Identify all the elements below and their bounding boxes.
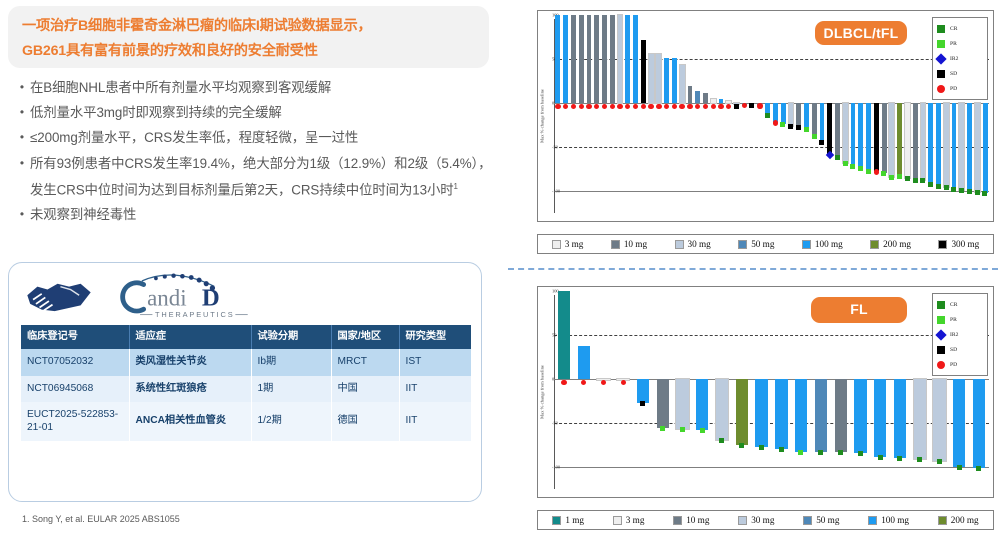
response-marker-pr: [700, 428, 705, 433]
list-item: • ≤200mg剂量水平，CRS发生率低，程度轻微，呈一过性: [14, 126, 492, 149]
response-marker-cr: [913, 178, 918, 183]
dose-swatch-icon: [613, 516, 622, 525]
legend-label: SD: [950, 71, 957, 77]
bar: [975, 103, 980, 193]
bar: [835, 103, 840, 157]
bar: [656, 54, 661, 103]
chart-title-badge-dlbcl: DLBCL/tFL: [815, 21, 907, 45]
sd-swatch-icon: [937, 346, 945, 354]
dose-legend-item[interactable]: 200 mg: [938, 515, 979, 525]
bar: [866, 103, 871, 172]
pd-swatch-icon: [937, 85, 945, 93]
response-marker-pd: [672, 104, 677, 109]
bar: [672, 58, 677, 103]
chart-title-badge-fl: FL: [811, 297, 907, 323]
dose-swatch-icon: [868, 516, 877, 525]
response-legend-dlbcl: CRPRIR2SDPD: [932, 17, 988, 100]
dose-legend-label: 50 mg: [751, 239, 774, 249]
cell-registry: NCT07052032: [21, 349, 129, 376]
svg-text:THERAPEUTICS: THERAPEUTICS: [155, 310, 234, 319]
cell-country: 中国: [331, 376, 399, 403]
dose-swatch-icon: [675, 240, 684, 249]
response-marker-sd: [819, 140, 824, 145]
clinical-trials-table: 临床登记号 适应症 试验分期 国家/地区 研究类型 NCT07052032 类风…: [21, 325, 471, 441]
bar: [625, 15, 630, 103]
dose-swatch-icon: [738, 516, 747, 525]
bullet-dot-icon: •: [14, 203, 30, 226]
bullet-text: 未观察到神经毒性: [30, 203, 136, 226]
legend-row-pr: PR: [937, 36, 983, 51]
dose-swatch-icon: [870, 240, 879, 249]
logo-row: andi D THERAPEUTICS: [23, 267, 463, 325]
response-marker-pd: [555, 104, 560, 109]
cell-study-type: IST: [399, 349, 471, 376]
response-marker-pr: [843, 161, 848, 166]
response-marker-pd: [561, 380, 566, 385]
dose-swatch-icon: [673, 516, 682, 525]
response-marker-cr: [858, 451, 863, 456]
dose-legend-label: 3 mg: [626, 515, 645, 525]
bar: [905, 103, 910, 179]
cell-phase: Ib期: [251, 349, 331, 376]
bar: [894, 379, 906, 458]
bar: [711, 99, 716, 103]
response-marker-sd: [749, 103, 754, 108]
dose-legend-item[interactable]: 3 mg: [613, 515, 645, 525]
legend-row-sd: SD: [937, 342, 983, 357]
response-marker-cr: [897, 456, 902, 461]
response-marker-cr: [944, 185, 949, 190]
legend-label: CR: [950, 302, 957, 308]
cell-registry: NCT06945068: [21, 376, 129, 403]
dose-swatch-icon: [552, 516, 561, 525]
response-marker-pd: [625, 104, 630, 109]
bar: [558, 291, 570, 379]
bar: [578, 346, 590, 378]
list-item: • 低剂量水平3mg时即观察到持续的完全缓解: [14, 101, 492, 124]
response-marker-pd: [687, 104, 692, 109]
cell-phase: 1/2期: [251, 402, 331, 441]
bar: [633, 15, 638, 103]
dose-swatch-icon: [611, 240, 620, 249]
bar: [973, 379, 985, 468]
table-header-row: 临床登记号 适应症 试验分期 国家/地区 研究类型: [21, 325, 471, 349]
pd-swatch-icon: [937, 361, 945, 369]
bar: [804, 103, 809, 129]
bullet-text: 所有93例患者中CRS发生率19.4%，绝大部分为1级（12.9%）和2级（5.…: [30, 156, 491, 198]
response-marker-sd: [734, 104, 739, 109]
bar: [571, 15, 576, 103]
column-header-phase: 试验分期: [251, 325, 331, 349]
dose-legend-item[interactable]: 10 mg: [611, 239, 647, 249]
response-marker-pd: [718, 104, 723, 109]
bar: [851, 103, 856, 166]
dose-legend-label: 200 mg: [951, 515, 979, 525]
response-marker-pr: [866, 169, 871, 174]
bullet-text: 低剂量水平3mg时即观察到持续的完全缓解: [30, 101, 282, 124]
response-marker-cr: [975, 190, 980, 195]
slide-root: 一项治疗B细胞非霍奇金淋巴瘤的临床I期试验数据显示， GB261具有富有前景的疗…: [0, 0, 1000, 538]
dose-legend-item[interactable]: 50 mg: [738, 239, 774, 249]
response-marker-pr: [897, 174, 902, 179]
legend-label: PR: [950, 317, 957, 323]
response-marker-cr: [838, 450, 843, 455]
bar: [820, 103, 825, 143]
dose-legend-label: 1 mg: [565, 515, 584, 525]
bar: [688, 86, 693, 103]
cr-swatch-icon: [937, 301, 945, 309]
legend-label: PD: [950, 86, 957, 92]
response-marker-pd: [602, 104, 607, 109]
response-marker-pd: [679, 104, 684, 109]
response-marker-pd: [563, 104, 568, 109]
response-marker-pr: [780, 122, 785, 127]
bar: [854, 379, 866, 454]
cell-phase: 1期: [251, 376, 331, 403]
bar: [843, 103, 848, 163]
sd-swatch-icon: [937, 70, 945, 78]
bar: [719, 99, 724, 103]
column-header-indication: 适应症: [129, 325, 251, 349]
bar: [579, 15, 584, 103]
dose-legend-label: 100 mg: [815, 239, 843, 249]
bullet-dot-icon: •: [14, 126, 30, 149]
bar: [889, 103, 894, 177]
bullet-dot-icon: •: [14, 76, 30, 99]
response-marker-pd: [571, 104, 576, 109]
response-marker-pd: [617, 104, 622, 109]
legend-row-pd: PD: [937, 357, 983, 372]
dose-swatch-icon: [552, 240, 561, 249]
dose-swatch-icon: [803, 516, 812, 525]
bar: [952, 103, 957, 189]
bullet-dot-icon: •: [14, 101, 30, 124]
bullet-text: ≤200mg剂量水平，CRS发生率低，程度轻微，呈一过性: [30, 126, 358, 149]
bar: [649, 54, 654, 103]
bullet-dot-icon: •: [14, 152, 30, 175]
response-legend-fl: CRPRIR2SDPD: [932, 293, 988, 376]
response-marker-pr: [798, 450, 803, 455]
cr-swatch-icon: [937, 25, 945, 33]
bar: [936, 103, 941, 186]
canvas-fl: 100500-50-100: [554, 291, 989, 493]
ir2-swatch-icon: [935, 53, 946, 64]
bar: [953, 379, 965, 467]
response-marker-cr: [951, 187, 956, 192]
response-marker-pd: [874, 169, 879, 174]
response-marker-cr: [957, 465, 962, 470]
response-marker-pd: [581, 380, 586, 385]
footnote-marker: 1: [454, 182, 458, 191]
bar: [913, 103, 918, 180]
legend-label: CR: [950, 26, 957, 32]
legend-label: SD: [950, 347, 957, 353]
plot-area-dlbcl: Max % change from baseline 100500-50-100…: [537, 10, 994, 222]
dose-legend-item[interactable]: 1 mg: [552, 515, 584, 525]
cell-indication: ANCA相关性血管炎: [129, 402, 251, 441]
response-marker-pd: [579, 104, 584, 109]
chart-fl: Max % change from baseline 100500-50-100…: [511, 278, 998, 536]
response-marker-pd: [594, 104, 599, 109]
dose-swatch-icon: [802, 240, 811, 249]
response-marker-pr: [660, 426, 665, 431]
column-header-country: 国家/地区: [331, 325, 399, 349]
legend-row-cr: CR: [937, 21, 983, 36]
bar: [858, 103, 863, 168]
dose-swatch-icon: [938, 240, 947, 249]
bar: [716, 379, 728, 440]
response-marker-cr: [936, 184, 941, 189]
dose-legend-dlbcl: 3 mg10 mg30 mg50 mg100 mg200 mg300 mg: [537, 234, 994, 254]
bar: [594, 15, 599, 103]
dose-legend-label: 30 mg: [751, 515, 774, 525]
table-row: NCT07052032 类风湿性关节炎 Ib期 MRCT IST: [21, 349, 471, 376]
response-marker-pd: [711, 104, 716, 109]
response-marker-pd: [757, 103, 762, 108]
plot-area-fl: Max % change from baseline 100500-50-100…: [537, 286, 994, 498]
bar: [921, 103, 926, 180]
response-marker-cr: [835, 155, 840, 160]
list-item: • 未观察到神经毒性: [14, 203, 492, 226]
bar: [933, 379, 945, 462]
bar: [874, 103, 879, 172]
dose-legend-label: 3 mg: [565, 239, 584, 249]
bars-dlbcl: [554, 15, 989, 217]
headline-line-2: GB261具有富有前景的疗效和良好的安全耐受性: [22, 39, 475, 64]
bar: [914, 379, 926, 459]
dose-legend-label: 50 mg: [816, 515, 839, 525]
bar: [680, 65, 685, 103]
response-marker-pr: [850, 164, 855, 169]
bar: [641, 40, 646, 103]
response-marker-pd: [726, 104, 731, 109]
ir2-swatch-icon: [935, 329, 946, 340]
response-marker-cr: [719, 438, 724, 443]
dose-legend-label: 30 mg: [688, 239, 711, 249]
table-row: NCT06945068 系统性红斑狼疮 1期 中国 IIT: [21, 376, 471, 403]
response-marker-pd: [703, 104, 708, 109]
dose-legend-label: 10 mg: [624, 239, 647, 249]
bar: [563, 15, 568, 103]
dose-legend-item[interactable]: 30 mg: [738, 515, 774, 525]
bar: [664, 58, 669, 103]
legend-row-pr: PR: [937, 312, 983, 327]
legend-row-pd: PD: [937, 81, 983, 96]
response-marker-pd: [648, 104, 653, 109]
bullet-text-with-footnote: 所有93例患者中CRS发生率19.4%，绝大部分为1级（12.9%）和2级（5.…: [30, 152, 492, 202]
response-marker-pr: [881, 171, 886, 176]
column-header-study-type: 研究类型: [399, 325, 471, 349]
bar: [657, 379, 669, 428]
bar: [795, 379, 807, 452]
response-marker-pd: [742, 103, 747, 108]
response-marker-sd: [640, 401, 645, 406]
dose-legend-fl: 1 mg3 mg10 mg30 mg50 mg100 mg200 mg: [537, 510, 994, 530]
y-axis-label-fl: Max % change from baseline: [540, 342, 545, 442]
response-marker-cr: [920, 178, 925, 183]
response-marker-cr: [905, 176, 910, 181]
bar: [695, 91, 700, 102]
dose-legend-item[interactable]: 3 mg: [552, 239, 584, 249]
response-marker-pr: [812, 134, 817, 139]
response-marker-pd: [610, 104, 615, 109]
cell-indication: 类风湿性关节炎: [129, 349, 251, 376]
bar: [983, 103, 988, 193]
candid-logo: andi D THERAPEUTICS: [103, 270, 253, 322]
dose-legend-item[interactable]: 100 mg: [802, 239, 843, 249]
bars-fl: [554, 291, 989, 493]
bar: [555, 15, 560, 103]
response-marker-pr: [680, 427, 685, 432]
legend-row-ir2: IR2: [937, 51, 983, 66]
bar: [610, 15, 615, 103]
response-marker-cr: [917, 457, 922, 462]
dose-swatch-icon: [938, 516, 947, 525]
bar: [587, 15, 592, 103]
bar: [781, 103, 786, 124]
bar: [618, 15, 623, 103]
table-row: EUCT2025-522853-21-01 ANCA相关性血管炎 1/2期 德国…: [21, 402, 471, 441]
left-panel: 一项治疗B细胞非霍奇金淋巴瘤的临床I期试验数据显示， GB261具有富有前景的疗…: [0, 0, 500, 538]
y-axis-label-dlbcl: Max % change from baseline: [540, 66, 545, 166]
response-marker-sd: [796, 125, 801, 130]
response-marker-cr: [739, 443, 744, 448]
dose-legend-label: 10 mg: [686, 515, 709, 525]
response-marker-cr: [765, 113, 770, 118]
bar: [696, 379, 708, 430]
bar: [928, 103, 933, 184]
dose-swatch-icon: [738, 240, 747, 249]
bar: [775, 379, 787, 449]
bar: [602, 15, 607, 103]
response-marker-cr: [937, 459, 942, 464]
canvas-dlbcl: 100500-50-100: [554, 15, 989, 217]
bar: [967, 103, 972, 191]
bar: [736, 379, 748, 445]
bar: [789, 103, 794, 126]
response-marker-pd: [601, 380, 606, 385]
bar: [796, 103, 801, 128]
chart-dlbcl-tfl: Max % change from baseline 100500-50-100…: [511, 2, 998, 260]
cell-study-type: IIT: [399, 402, 471, 441]
bar: [815, 379, 827, 452]
bar: [874, 379, 886, 457]
dose-legend-item[interactable]: 50 mg: [803, 515, 839, 525]
bar: [755, 379, 767, 448]
response-marker-pd: [695, 104, 700, 109]
response-marker-pd: [656, 104, 661, 109]
legend-row-cr: CR: [937, 297, 983, 312]
bar: [827, 103, 832, 154]
response-marker-cr: [818, 450, 823, 455]
response-marker-pd: [641, 104, 646, 109]
svg-text:andi: andi: [147, 286, 187, 311]
bar: [703, 93, 708, 103]
response-marker-pd: [773, 120, 778, 125]
legend-label: IR2: [950, 332, 958, 338]
headline-line-1: 一项治疗B细胞非霍奇金淋巴瘤的临床I期试验数据显示，: [22, 14, 475, 39]
dose-legend-label: 100 mg: [881, 515, 909, 525]
cell-study-type: IIT: [399, 376, 471, 403]
response-marker-ir2: [826, 151, 834, 159]
response-marker-pr: [858, 166, 863, 171]
bar: [835, 379, 847, 452]
bullet-text: 在B细胞NHL患者中所有剂量水平均观察到客观缓解: [30, 76, 331, 99]
response-marker-pd: [633, 104, 638, 109]
cell-country: 德国: [331, 402, 399, 441]
legend-label: IR2: [950, 56, 958, 62]
bar: [882, 103, 887, 173]
bar: [637, 379, 649, 403]
response-marker-cr: [982, 191, 987, 196]
cell-registry: EUCT2025-522853-21-01: [21, 402, 129, 441]
bar: [944, 103, 949, 187]
partner-card: andi D THERAPEUTICS: [8, 262, 482, 502]
response-marker-pd: [586, 104, 591, 109]
column-header-registry: 临床登记号: [21, 325, 129, 349]
legend-label: PR: [950, 41, 957, 47]
footnote-reference: 1. Song Y, et al. EULAR 2025 ABS1055: [22, 514, 180, 524]
right-panel: Max % change from baseline 100500-50-100…: [503, 0, 1000, 538]
dose-legend-item[interactable]: 300 mg: [938, 239, 979, 249]
dose-legend-item[interactable]: 100 mg: [868, 515, 909, 525]
bar: [726, 101, 731, 103]
bullet-list: • 在B细胞NHL患者中所有剂量水平均观察到客观缓解 • 低剂量水平3mg时即观…: [14, 76, 492, 229]
response-marker-cr: [928, 182, 933, 187]
dose-legend-item[interactable]: 30 mg: [675, 239, 711, 249]
response-marker-pd: [621, 380, 626, 385]
response-marker-sd: [788, 124, 793, 129]
pr-swatch-icon: [937, 316, 945, 324]
headline-banner: 一项治疗B细胞非霍奇金淋巴瘤的临床I期试验数据显示， GB261具有富有前景的疗…: [8, 6, 489, 68]
bar: [897, 103, 902, 176]
dose-legend-item[interactable]: 200 mg: [870, 239, 911, 249]
dose-legend-label: 200 mg: [883, 239, 911, 249]
list-item: • 所有93例患者中CRS发生率19.4%，绝大部分为1级（12.9%）和2级（…: [14, 152, 492, 202]
response-marker-cr: [959, 188, 964, 193]
response-marker-cr: [976, 466, 981, 471]
cell-indication: 系统性红斑狼疮: [129, 376, 251, 403]
response-marker-cr: [967, 189, 972, 194]
response-marker-pr: [804, 127, 809, 132]
legend-row-sd: SD: [937, 66, 983, 81]
response-marker-cr: [878, 455, 883, 460]
cell-country: MRCT: [331, 349, 399, 376]
response-marker-cr: [759, 445, 764, 450]
dose-legend-label: 300 mg: [951, 239, 979, 249]
legend-label: PD: [950, 362, 957, 368]
response-marker-pr: [889, 175, 894, 180]
list-item: • 在B细胞NHL患者中所有剂量水平均观察到客观缓解: [14, 76, 492, 99]
bar: [676, 379, 688, 429]
legend-row-ir2: IR2: [937, 327, 983, 342]
response-marker-cr: [779, 447, 784, 452]
handshake-icon: [23, 273, 95, 319]
bar: [959, 103, 964, 190]
bar: [812, 103, 817, 136]
pr-swatch-icon: [937, 40, 945, 48]
response-marker-pd: [664, 104, 669, 109]
dose-legend-item[interactable]: 10 mg: [673, 515, 709, 525]
